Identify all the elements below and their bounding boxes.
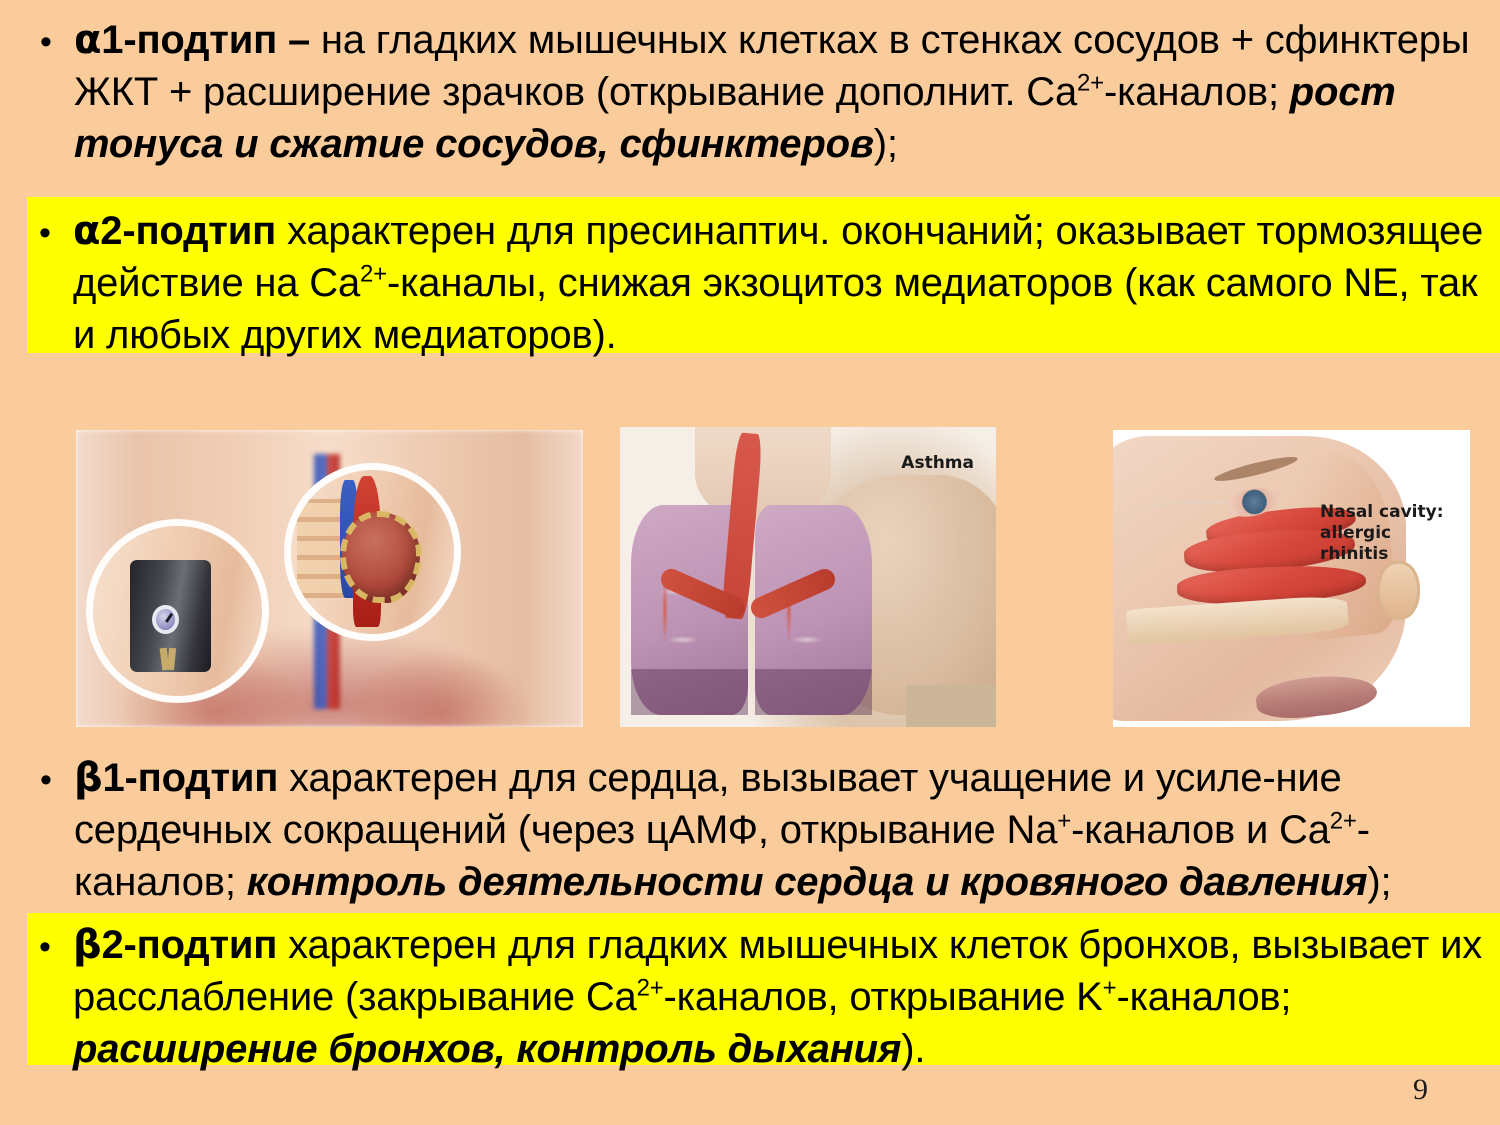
bullet-beta2-superscript-1: 2+ <box>637 975 664 1002</box>
blood-pressure-cuff-illustration <box>130 560 211 672</box>
page-number: 9 <box>1413 1073 1428 1107</box>
bullet-beta2-after-sup: -каналов; <box>1116 975 1291 1019</box>
nasal-caption-line1: Nasal cavity: <box>1320 502 1444 522</box>
bullet-beta1-superscript-2: 2+ <box>1330 808 1357 835</box>
bullet-text-alpha2: α2-подтип характерен для пресинаптич. ок… <box>73 205 1500 361</box>
bullet-beta1-italic: контроль деятельности сердца и кровяного… <box>247 860 1368 904</box>
bullet-beta2-label: 2-подтип <box>101 923 288 967</box>
bullet-beta2: • β2-подтип характерен для гладких мышеч… <box>27 913 1500 1065</box>
coronary-vessels-illustration <box>340 511 422 603</box>
heart-magnifier-circle <box>284 463 461 641</box>
bullet-alpha2-label: 2-подтип <box>100 209 287 253</box>
bullet-beta1: • β1-подтип характерен для сердца, вызыв… <box>28 752 1496 908</box>
bullet-beta1-paren-open: (через цАМФ, открывание Na <box>518 808 1058 852</box>
nasal-cavity-caption: Nasal cavity:allergic rhinitis <box>1320 502 1460 565</box>
asthma-caption: Asthma <box>901 453 974 473</box>
cuff-magnifier-circle <box>86 519 269 703</box>
bullet-marker-alpha1: • <box>28 14 74 70</box>
figure-blood-pressure[interactable] <box>76 430 583 727</box>
bullet-beta1-label: 1-подтип <box>102 756 289 800</box>
bullet-alpha2-after-sup: -каналы, снижая экзоцитоз медиаторов <box>387 261 1124 305</box>
bullet-alpha1: • α1-подтип – на гладких мышечных клетка… <box>28 14 1488 170</box>
greek-alpha-symbol-2: α <box>73 208 100 254</box>
bullet-alpha1-tail: ); <box>874 122 898 166</box>
greek-beta-symbol: β <box>74 755 102 801</box>
greek-alpha-symbol: α <box>74 17 101 63</box>
bullet-text-beta2: β2-подтип характерен для гладких мышечны… <box>73 919 1500 1075</box>
bullet-marker-beta2: • <box>27 919 73 975</box>
bullet-beta1-mid: -каналов и Ca <box>1071 808 1330 852</box>
bullet-marker-beta1: • <box>28 752 74 808</box>
bullet-beta2-paren-open: (закрывание Ca <box>345 975 637 1019</box>
cuff-tube-right <box>167 647 176 670</box>
slide-canvas: • α1-подтип – на гладких мышечных клетка… <box>0 0 1500 1125</box>
nasal-caption-line2: allergic rhinitis <box>1320 523 1391 564</box>
bullet-alpha1-paren-open: (открывание дополнит. Ca <box>596 70 1077 114</box>
bullet-text-beta1: β1-подтип характерен для сердца, вызывае… <box>74 752 1496 908</box>
bullet-beta1-tail: ); <box>1367 860 1391 904</box>
bullet-text-alpha1: α1-подтип – на гладких мышечных клетках … <box>74 14 1488 170</box>
bullet-alpha1-label: 1-подтип – <box>101 18 321 62</box>
figure-asthma-lungs[interactable]: Asthma <box>620 427 996 727</box>
pressure-gauge-icon <box>152 605 179 634</box>
nostril-illustration <box>1377 561 1420 620</box>
figure-nasal-cavity[interactable]: Nasal cavity:allergic rhinitis <box>1113 430 1470 727</box>
lung-figure-corner-patch <box>906 685 996 727</box>
bullet-alpha2-superscript: 2+ <box>360 261 387 288</box>
bullet-alpha2: • α2-подтип характерен для пресинаптич. … <box>27 197 1500 353</box>
greek-beta-symbol-2: β <box>73 922 101 968</box>
bullet-marker-alpha2: • <box>27 205 73 261</box>
bullet-alpha1-after-sup: -каналов; <box>1104 70 1290 114</box>
bullet-beta2-tail: ). <box>901 1027 925 1071</box>
bullet-beta2-italic: расширение бронхов, контроль дыхания <box>73 1027 901 1071</box>
bullet-beta2-superscript-2: + <box>1103 975 1117 1002</box>
bullet-beta1-superscript-1: + <box>1057 808 1071 835</box>
bullet-beta2-mid: -каналов, открывание K <box>664 975 1103 1019</box>
bullet-alpha1-superscript: 2+ <box>1077 70 1104 97</box>
